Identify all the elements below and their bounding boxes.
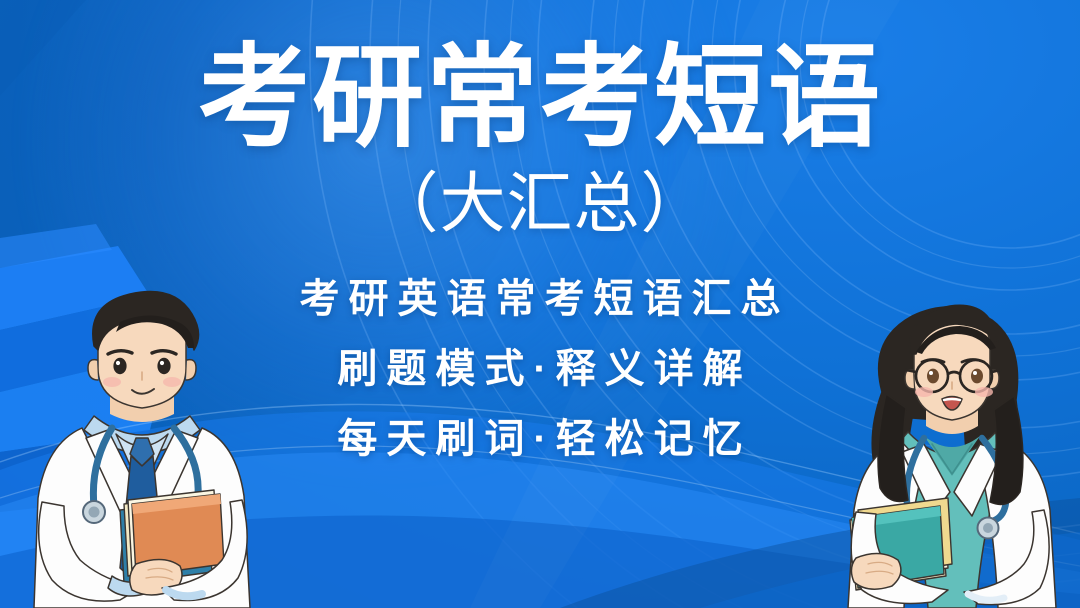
- female-doctor-illustration: [828, 296, 1066, 608]
- page-subtitle: （大汇总）: [0, 167, 1080, 240]
- page-title: 考研常考短语: [0, 38, 1080, 159]
- male-doctor-illustration: [24, 288, 260, 608]
- poster-canvas: 考研常考短语 （大汇总） 考研英语常考短语汇总 刷题模式·释义详解 每天刷词·轻…: [0, 0, 1080, 608]
